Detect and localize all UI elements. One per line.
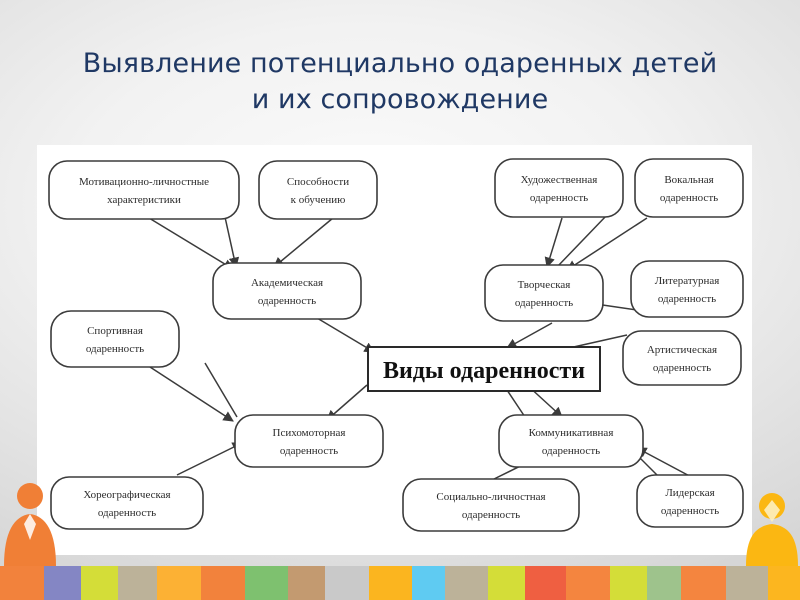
node-motivation[interactable]: Мотивационно-личностные характеристики (49, 161, 239, 219)
colorbar-swatch (288, 566, 325, 600)
colorbar-swatch (726, 566, 768, 600)
node-artistic-art[interactable]: Художественная одаренность (495, 159, 623, 217)
edge-academic-center (317, 318, 374, 352)
node-psychomotor-line1: Психомоторная (273, 427, 346, 439)
node-art-line1: Художественная (521, 174, 598, 186)
colorbar-swatch (0, 566, 44, 600)
edge-creative-center (507, 323, 552, 348)
node-art-line2: одаренность (530, 192, 588, 204)
node-literary[interactable]: Литературная одаренность (631, 261, 743, 317)
node-center[interactable]: Виды одаренности (368, 347, 600, 391)
page-title: Выявление потенциально одаренных детей и… (0, 46, 800, 118)
edge-vocal-creative-2 (557, 215, 607, 267)
node-communicative[interactable]: Коммуникативная одаренность (499, 415, 643, 467)
node-artistry[interactable]: Артистическая одаренность (623, 331, 741, 385)
colorbar-swatch (768, 566, 800, 600)
node-psychomotor-line2: одаренность (280, 445, 338, 457)
node-academic-line1: Академическая (251, 277, 323, 289)
colorbar (0, 566, 800, 600)
node-center-label: Виды одаренности (383, 358, 585, 384)
person-left-icon (4, 483, 56, 566)
colorbar-swatch (201, 566, 245, 600)
node-creative-line1: Творческая (518, 279, 571, 291)
colorbar-swatch (681, 566, 726, 600)
node-sport[interactable]: Спортивная одаренность (51, 311, 179, 367)
node-creative-line2: одаренность (515, 297, 573, 309)
node-creative[interactable]: Творческая одаренность (485, 265, 603, 321)
edge-sport-psychomotor (150, 367, 233, 421)
node-academic[interactable]: Академическая одаренность (213, 263, 361, 319)
node-learning[interactable]: Способности к обучению (259, 161, 377, 219)
colorbar-swatch (610, 566, 647, 600)
node-artistry-line2: одаренность (653, 362, 711, 374)
edge-learning-academic-2 (274, 218, 333, 267)
colorbar-swatch (525, 566, 566, 600)
edge-art-creative (547, 218, 562, 267)
colorbar-swatch (118, 566, 157, 600)
node-motivation-line2: характеристики (107, 194, 181, 206)
colorbar-swatch (157, 566, 201, 600)
node-literary-line2: одаренность (658, 293, 716, 305)
colorbar-swatch (369, 566, 412, 600)
colorbar-swatch (412, 566, 445, 600)
colorbar-swatch (488, 566, 525, 600)
node-vocal-line1: Вокальная (664, 174, 713, 186)
edge-learning-academic (225, 217, 236, 267)
colorbar-swatch (81, 566, 118, 600)
node-learning-line1: Способности (287, 176, 349, 188)
node-vocal[interactable]: Вокальная одаренность (635, 159, 743, 217)
colorbar-swatch (325, 566, 369, 600)
colorbar-swatch (566, 566, 610, 600)
colorbar-swatch (245, 566, 288, 600)
edge-sport-psychomotor-2 (205, 363, 237, 417)
node-motivation-line1: Мотивационно-личностные (79, 176, 209, 188)
colorbar-swatch (647, 566, 681, 600)
slide-canvas: Выявление потенциально одаренных детей и… (0, 0, 800, 600)
node-sport-line1: Спортивная (87, 325, 143, 337)
node-artistry-line1: Артистическая (647, 344, 717, 356)
node-learning-line2: к обучению (291, 194, 346, 206)
people-decoration (0, 470, 800, 566)
node-sport-line2: одаренность (86, 343, 144, 355)
node-psychomotor[interactable]: Психомоторная одаренность (235, 415, 383, 467)
person-right-icon (746, 493, 798, 566)
colorbar-swatch (445, 566, 488, 600)
node-vocal-line2: одаренность (660, 192, 718, 204)
node-academic-line2: одаренность (258, 295, 316, 307)
node-communicative-line2: одаренность (542, 445, 600, 457)
node-literary-line1: Литературная (655, 275, 720, 287)
colorbar-swatch (44, 566, 81, 600)
node-communicative-line1: Коммуникативная (529, 427, 614, 439)
edge-motivation-academic (149, 218, 233, 269)
